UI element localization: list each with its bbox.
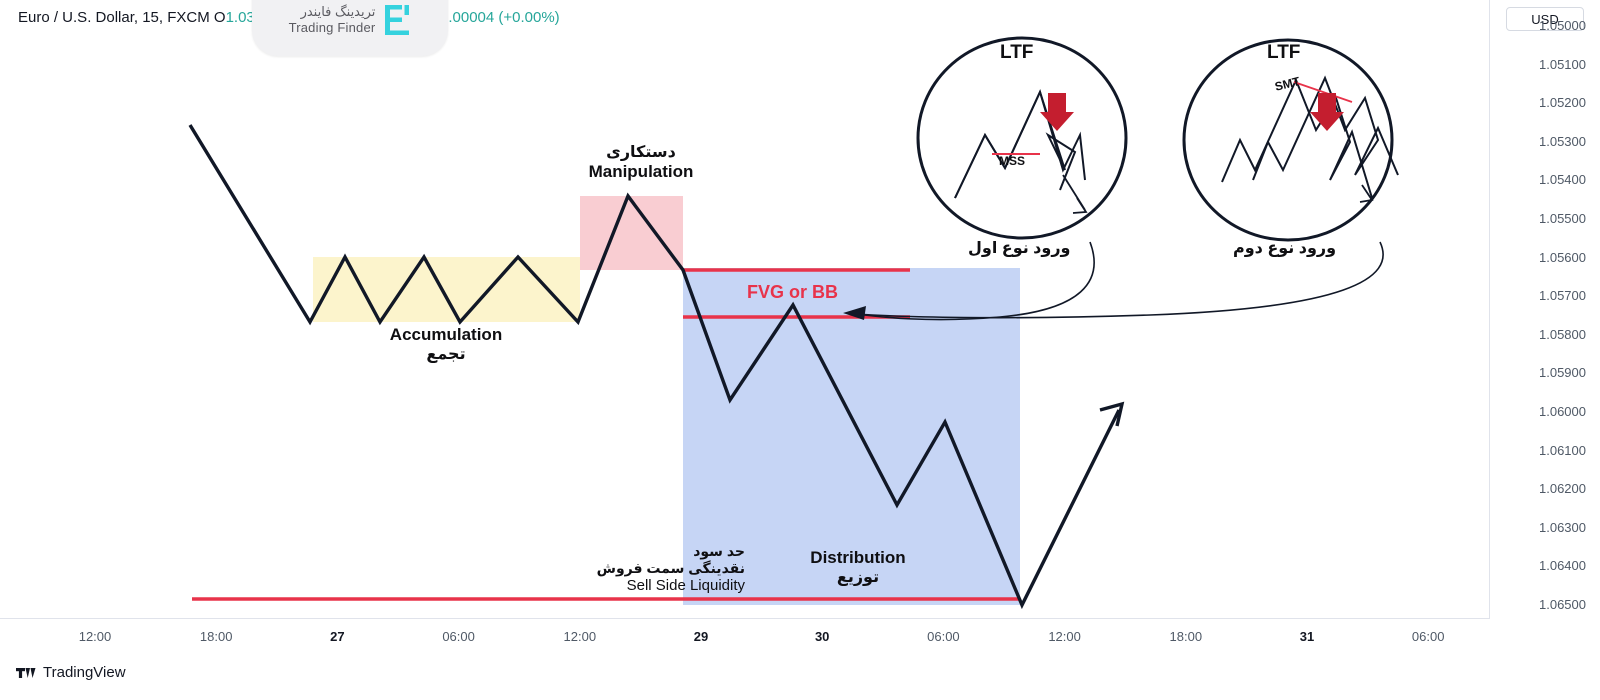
ohlc-open-prefix: O	[214, 9, 226, 26]
price-scale[interactable]: USD 1.050001.051001.052001.053001.054001…	[1489, 0, 1600, 618]
price-tick: 1.05700	[1539, 288, 1586, 303]
price-tick: 1.06300	[1539, 520, 1586, 535]
price-tick: 1.05400	[1539, 172, 1586, 187]
ltf-circle-1	[918, 38, 1126, 238]
time-tick: 31	[1300, 629, 1314, 644]
price-tick: 1.05500	[1539, 211, 1586, 226]
price-tick: 1.06400	[1539, 558, 1586, 573]
accumulation-label-en: Accumulation	[356, 325, 536, 345]
price-tick: 1.06000	[1539, 404, 1586, 419]
time-tick: 18:00	[1170, 629, 1203, 644]
ltf-title-1: LTF	[1000, 42, 1033, 64]
price-tick: 1.05600	[1539, 250, 1586, 265]
time-tick: 29	[694, 629, 708, 644]
manipulation-label-fa: دستکاری	[556, 143, 726, 162]
manipulation-zone-box	[580, 196, 683, 270]
price-tick: 1.06100	[1539, 443, 1586, 458]
accumulation-zone-box	[313, 257, 580, 322]
price-tick: 1.05800	[1539, 327, 1586, 342]
fvg-or-bb-label: FVG or BB	[747, 282, 838, 303]
time-tick: 12:00	[564, 629, 597, 644]
ltf-circle-2	[1184, 40, 1398, 240]
tradingview-logo[interactable]: TradingView	[16, 664, 126, 681]
tradingview-brand-label: TradingView	[43, 664, 126, 681]
price-tick: 1.05900	[1539, 365, 1586, 380]
symbol-title: Euro / U.S. Dollar, 15, FXCM	[18, 9, 210, 26]
chart-header: Euro / U.S. Dollar, 15, FXCM O1.035 0.00…	[0, 0, 1490, 30]
sell-side-label-fa-top: حد سود	[515, 543, 745, 560]
distribution-label-en: Distribution	[768, 548, 948, 568]
time-tick: 06:00	[927, 629, 960, 644]
price-tick: 1.06200	[1539, 481, 1586, 496]
price-tick: 1.05200	[1539, 95, 1586, 110]
distribution-label: Distribution توزیع	[768, 548, 948, 588]
mss-label: MSS	[999, 154, 1025, 168]
sell-side-liquidity-label: حد سود نقدینگی سمت فروش Sell Side Liquid…	[515, 543, 745, 595]
price-tick: 1.05300	[1539, 134, 1586, 149]
chart-pane[interactable]: دستکاری Manipulation Accumulation تجمع D…	[0, 30, 1490, 618]
time-tick: 12:00	[79, 629, 112, 644]
time-scale[interactable]: 12:0018:002706:0012:00293006:0012:0018:0…	[0, 618, 1490, 659]
tradingview-mark-icon	[16, 666, 36, 680]
sell-side-label-fa-mid: نقدینگی سمت فروش	[515, 560, 745, 577]
accumulation-label: Accumulation تجمع	[356, 325, 536, 365]
time-tick: 12:00	[1048, 629, 1081, 644]
manipulation-label: دستکاری Manipulation	[556, 143, 726, 183]
sell-side-label-en: Sell Side Liquidity	[515, 577, 745, 595]
symbol-info-line[interactable]: Euro / U.S. Dollar, 15, FXCM O1.035	[18, 9, 263, 26]
time-tick: 06:00	[1412, 629, 1445, 644]
price-change-value: 0.00004 (+0.00%)	[440, 9, 560, 26]
entry-type-2-label: ورود نوع دوم	[1233, 238, 1336, 258]
price-tick: 1.05000	[1539, 18, 1586, 33]
manipulation-label-en: Manipulation	[556, 162, 726, 182]
price-tick: 1.05100	[1539, 57, 1586, 72]
distribution-label-fa: توزیع	[768, 568, 948, 587]
price-tick: 1.06500	[1539, 597, 1586, 612]
accumulation-label-fa: تجمع	[356, 345, 536, 364]
ltf-title-2: LTF	[1267, 42, 1300, 64]
watermark-label-fa: تریدینگ فایندر	[289, 4, 376, 20]
entry-type-1-label: ورود نوع اول	[968, 238, 1070, 258]
time-tick: 06:00	[442, 629, 475, 644]
time-tick: 30	[815, 629, 829, 644]
chart-footer: TradingView	[0, 658, 1600, 700]
time-tick: 27	[330, 629, 344, 644]
time-tick: 18:00	[200, 629, 233, 644]
